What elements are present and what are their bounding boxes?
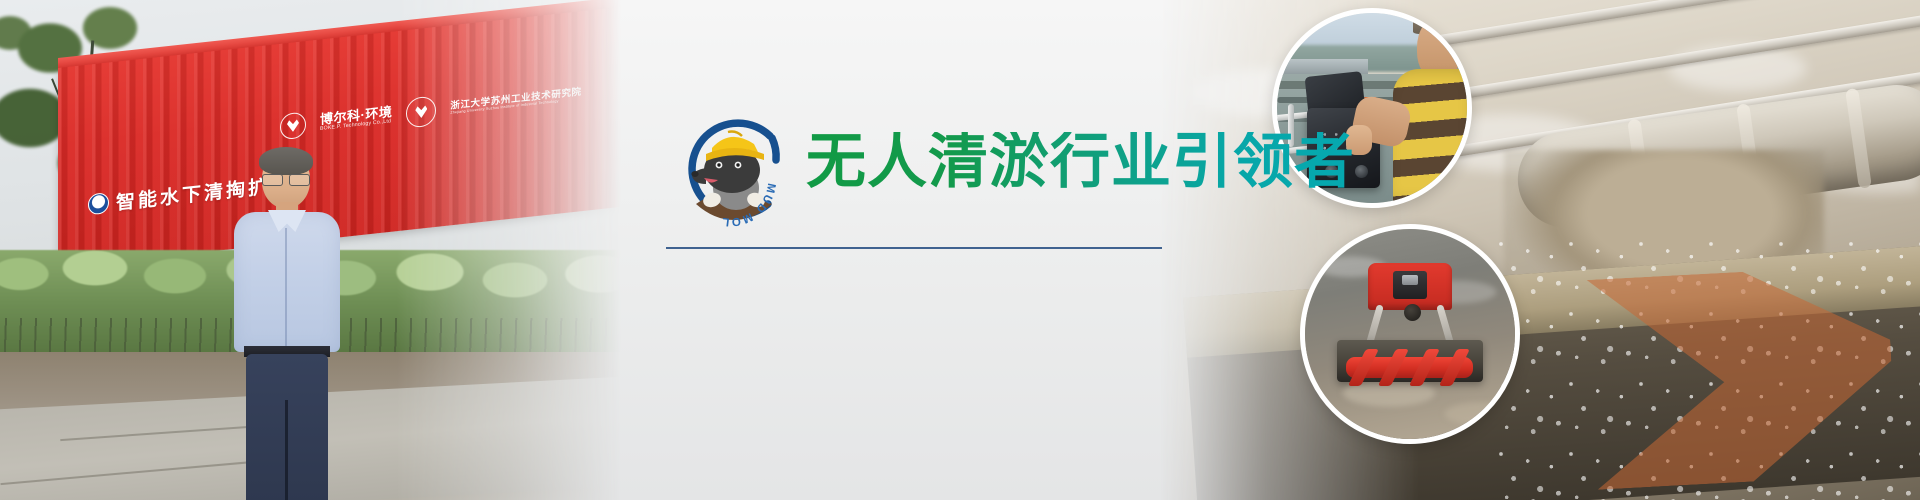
- headline-text: 无人清淤行业引领者: [806, 132, 1355, 192]
- headline: 无人清淤行业引领者: [806, 124, 1355, 200]
- headline-divider: [666, 247, 1162, 249]
- mud-mole-logo: MUD MOLE: [672, 108, 796, 232]
- hero-banner: 博尔科·环境 BOKE.P. Technology Co.,Ltd 浙江大学苏州…: [0, 0, 1920, 500]
- center-content: MUD MOLE 无人清淤行业引领者: [0, 0, 1920, 500]
